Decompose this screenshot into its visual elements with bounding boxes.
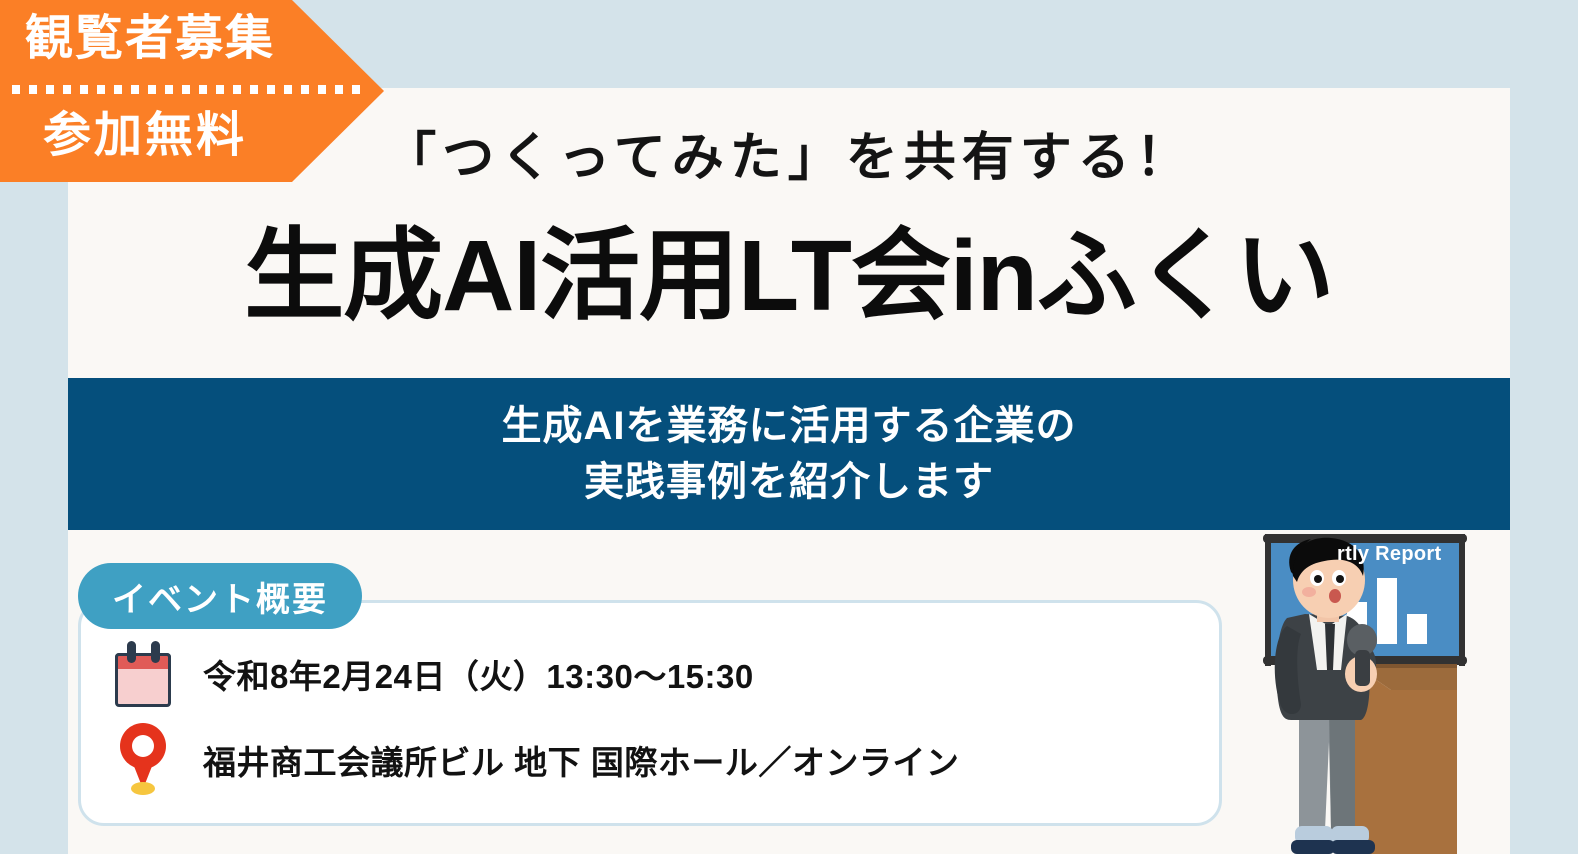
event-flyer: 生成AIを業務に活用する企業の 実践事例を紹介します 「つくってみた」を共有する… bbox=[0, 0, 1578, 854]
subtitle-band: 生成AIを業務に活用する企業の 実践事例を紹介します bbox=[68, 378, 1510, 530]
presenter-at-podium-illustration bbox=[1243, 530, 1521, 854]
band-line-1: 生成AIを業務に活用する企業の bbox=[502, 398, 1077, 454]
event-overview-box: 令和8年2月24日（火）13:30〜15:30 福井商工会議所ビル 地下 国際ホ… bbox=[78, 600, 1222, 826]
event-date-text: 令和8年2月24日（火）13:30〜15:30 bbox=[203, 650, 754, 698]
event-venue-text: 福井商工会議所ビル 地下 国際ホール／オンライン bbox=[203, 736, 959, 784]
map-pin-icon bbox=[111, 723, 175, 797]
ribbon-dotted-divider bbox=[12, 85, 364, 94]
ribbon-line-2: 参加無料 bbox=[0, 105, 290, 167]
ribbon-line-1: 観覧者募集 bbox=[0, 8, 300, 70]
event-date-row: 令和8年2月24日（火）13:30〜15:30 bbox=[111, 641, 754, 707]
event-overview-badge: イベント概要 bbox=[78, 563, 362, 629]
page-title: 生成AI活用LT会inふくい bbox=[68, 212, 1510, 340]
band-line-2: 実践事例を紹介します bbox=[584, 454, 994, 510]
event-venue-row: 福井商工会議所ビル 地下 国際ホール／オンライン bbox=[111, 723, 959, 797]
calendar-icon bbox=[111, 641, 175, 707]
